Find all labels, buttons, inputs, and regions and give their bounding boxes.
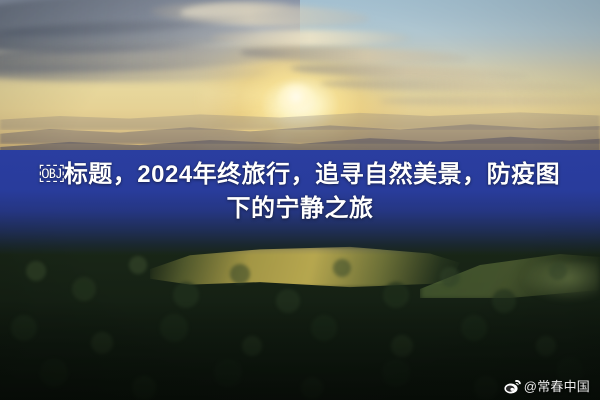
weibo-logo-icon [504,379,521,394]
page-title: ￼标题，2024年终旅行，追寻自然美景，防疫图下的宁静之旅 [0,158,600,226]
watermark-handle: @常春中国 [524,380,590,393]
sun-disc [278,84,314,110]
watermark: @常春中国 [504,379,590,394]
cloud-band [210,30,410,46]
poster-image: ￼标题，2024年终旅行，追寻自然美景，防疫图下的宁静之旅 @常春中国 [0,0,600,400]
